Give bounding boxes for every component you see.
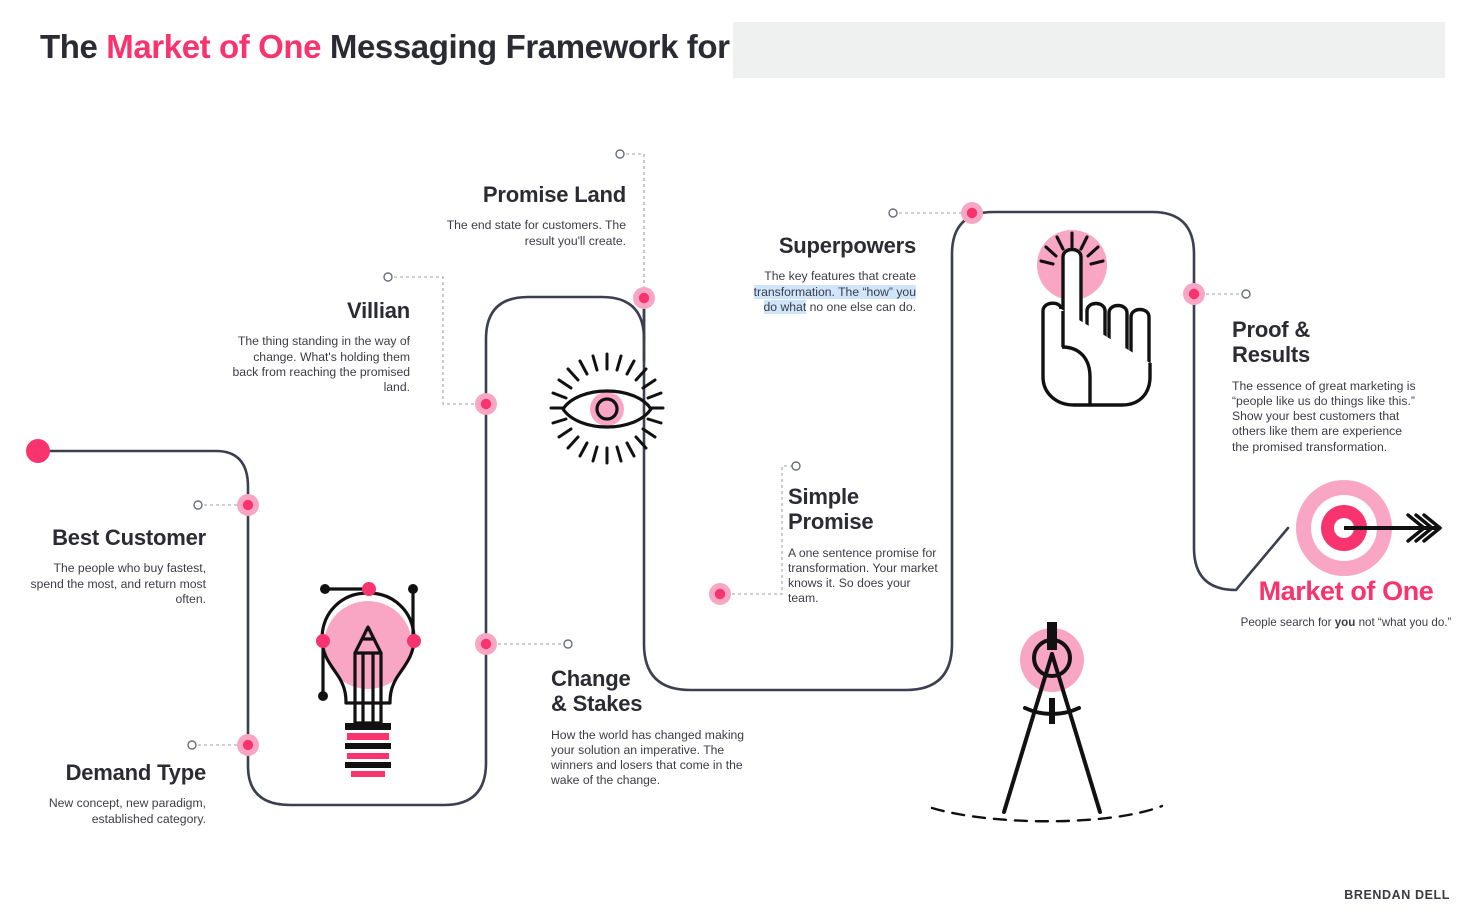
step-body: The end state for customers. The result …	[430, 218, 626, 249]
infographic-canvas: The Market of One Messaging Framework fo…	[0, 0, 1477, 924]
node-start-dot[interactable]	[26, 439, 50, 463]
heading-line-1: Change	[551, 666, 630, 691]
step-heading: Best Customer	[20, 525, 206, 550]
step-body: The thing standing in the way of change.…	[230, 334, 410, 395]
leader-superpowers	[889, 209, 972, 217]
leader-change-stakes	[486, 640, 572, 648]
outcome-title: Market of One	[1246, 576, 1446, 607]
step-heading: SimplePromise	[788, 484, 938, 535]
step-simple-promise: SimplePromise A one sentence promise for…	[788, 484, 938, 607]
node-dot-demand-type[interactable]	[237, 734, 259, 756]
pointing-hand-icon	[1037, 230, 1150, 405]
outcome-sub-post: not “what you do.”	[1355, 616, 1451, 629]
step-body: How the world has changed making your so…	[551, 728, 761, 789]
step-body: The people who buy fastest, spend the mo…	[20, 561, 206, 607]
drafting-compass-icon	[932, 622, 1162, 821]
node-dot-change-stakes[interactable]	[475, 633, 497, 655]
step-heading: Change& Stakes	[551, 666, 761, 717]
step-proof-and-results: Proof &Results The essence of great mark…	[1232, 317, 1422, 455]
step-body: New concept, new paradigm, established c…	[20, 796, 206, 827]
step-heading: Superpowers	[742, 233, 916, 258]
step-heading: Villian	[230, 298, 410, 323]
heading-line-1: Simple	[788, 484, 859, 509]
node-dot-superpowers[interactable]	[961, 202, 983, 224]
step-demand-type: Demand Type New concept, new paradigm, e…	[20, 760, 206, 827]
heading-line-2: Promise	[788, 509, 873, 534]
step-promise-land: Promise Land The end state for customers…	[430, 182, 626, 249]
node-dot-best-customer[interactable]	[237, 494, 259, 516]
step-heading: Demand Type	[20, 760, 206, 785]
node-dot-promise-land[interactable]	[633, 287, 655, 309]
step-body: A one sentence promise for transformatio…	[788, 546, 938, 607]
node-dot-simple-promise[interactable]	[709, 583, 731, 605]
target-arrow-icon	[1296, 480, 1440, 576]
step-heading: Proof &Results	[1232, 317, 1422, 368]
eye-icon	[551, 354, 663, 463]
step-best-customer: Best Customer The people who buy fastest…	[20, 525, 206, 607]
node-dot-villian[interactable]	[475, 393, 497, 415]
footer-brand: BRENDAN DELL	[1290, 888, 1450, 902]
body-post: no one else can do.	[806, 300, 916, 314]
lightbulb-pencil-icon	[316, 582, 421, 777]
heading-line-2: Results	[1232, 342, 1310, 367]
step-heading: Promise Land	[430, 182, 626, 207]
outcome-subtitle: People search for you not “what you do.”	[1216, 616, 1476, 629]
body-pre: The key features that create	[764, 269, 916, 283]
step-villian: Villian The thing standing in the way of…	[230, 298, 410, 395]
heading-line-2: & Stakes	[551, 691, 642, 716]
heading-line-1: Proof &	[1232, 317, 1310, 342]
step-body: The key features that create transformat…	[742, 269, 916, 315]
step-change-and-stakes: Change& Stakes How the world has changed…	[551, 666, 761, 789]
node-dot-proof-results[interactable]	[1183, 283, 1205, 305]
step-body: The essence of great marketing is “peopl…	[1232, 379, 1422, 455]
step-superpowers: Superpowers The key features that create…	[742, 233, 916, 315]
flow-segment-3	[486, 297, 644, 644]
outcome-sub-pre: People search for	[1241, 616, 1335, 629]
outcome-sub-bold: you	[1335, 616, 1356, 629]
